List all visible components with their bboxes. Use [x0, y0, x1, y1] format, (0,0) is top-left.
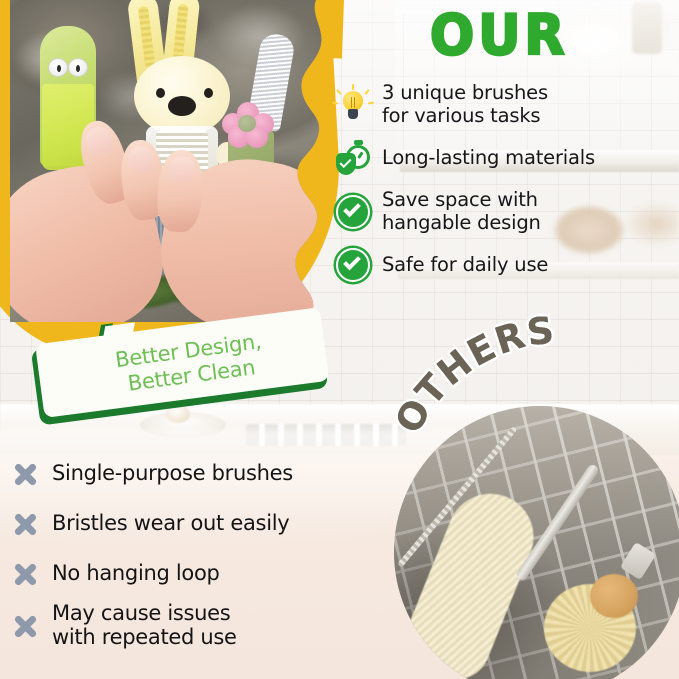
lightbulb-icon — [334, 86, 372, 124]
pro-text: Safe for daily use — [382, 254, 548, 277]
fingernail-1 — [83, 124, 116, 158]
frog-pupil-right — [76, 65, 80, 72]
con-item-bristles-wear: Bristles wear out easily — [8, 502, 380, 545]
con-text: No hanging loop — [52, 562, 220, 586]
bunny-eye-right — [204, 88, 213, 98]
bulb-ray-top — [352, 84, 354, 90]
check-circle-icon — [334, 246, 372, 284]
bunny-eye-left — [156, 88, 165, 98]
pro-text: Long-lasting materials — [382, 147, 595, 170]
bulb-ray-left — [336, 89, 341, 95]
con-item-no-hanging-loop: No hanging loop — [8, 552, 380, 595]
pro-text: 3 unique brushes for various tasks — [382, 82, 548, 127]
pro-item-safe-daily-use: Safe for daily use — [334, 243, 679, 287]
bulb-ray-left-low — [332, 101, 338, 104]
stopwatch-crown — [354, 140, 363, 145]
check-circle-icon — [334, 193, 372, 231]
bulb-ray-right-low — [368, 101, 374, 104]
frog-eye-left — [48, 58, 68, 77]
bulb-base — [348, 109, 358, 119]
con-item-single-purpose: Single-purpose brushes — [8, 452, 380, 495]
pro-item-long-lasting: Long-lasting materials — [334, 136, 679, 180]
x-mark-icon — [8, 557, 42, 591]
pink-flower-decor — [222, 102, 274, 146]
pro-item-save-space: Save space with hangable design — [334, 189, 679, 234]
bunny-ear-inner-left — [138, 6, 155, 69]
pro-item-unique-brushes: 3 unique brushes for various tasks — [334, 82, 679, 127]
con-text: Bristles wear out easily — [52, 512, 289, 536]
round-brush-wood-back — [590, 574, 638, 618]
con-text: Single-purpose brushes — [52, 462, 293, 486]
bulb-ray-right — [364, 89, 369, 95]
con-text: May cause issues with repeated use — [52, 602, 237, 650]
bunny-nose — [168, 96, 196, 116]
our-heading: OUR — [430, 8, 568, 63]
cons-list: Single-purpose brushes Bristles wear out… — [8, 452, 380, 657]
frog-pupil-left — [57, 65, 61, 72]
x-mark-icon — [8, 507, 42, 541]
fingernail-2 — [127, 145, 156, 174]
x-mark-icon — [8, 609, 42, 643]
our-product-photo — [10, 0, 328, 322]
pros-list: 3 unique brushes for various tasks Long-… — [334, 82, 679, 296]
con-item-repeated-use: May cause issues with repeated use — [8, 602, 380, 650]
flower-center — [238, 115, 256, 132]
shield-stopwatch-icon — [334, 139, 372, 177]
frog-eye-right — [68, 58, 88, 77]
x-mark-icon — [8, 457, 42, 491]
infographic-canvas: OUR 3 unique brushes for various tasks — [0, 0, 679, 679]
fingernail-3 — [168, 155, 197, 184]
others-product-photo — [394, 406, 679, 679]
bulb-filament — [351, 97, 355, 108]
pro-text: Save space with hangable design — [382, 189, 541, 234]
jar-decor — [632, 2, 662, 54]
